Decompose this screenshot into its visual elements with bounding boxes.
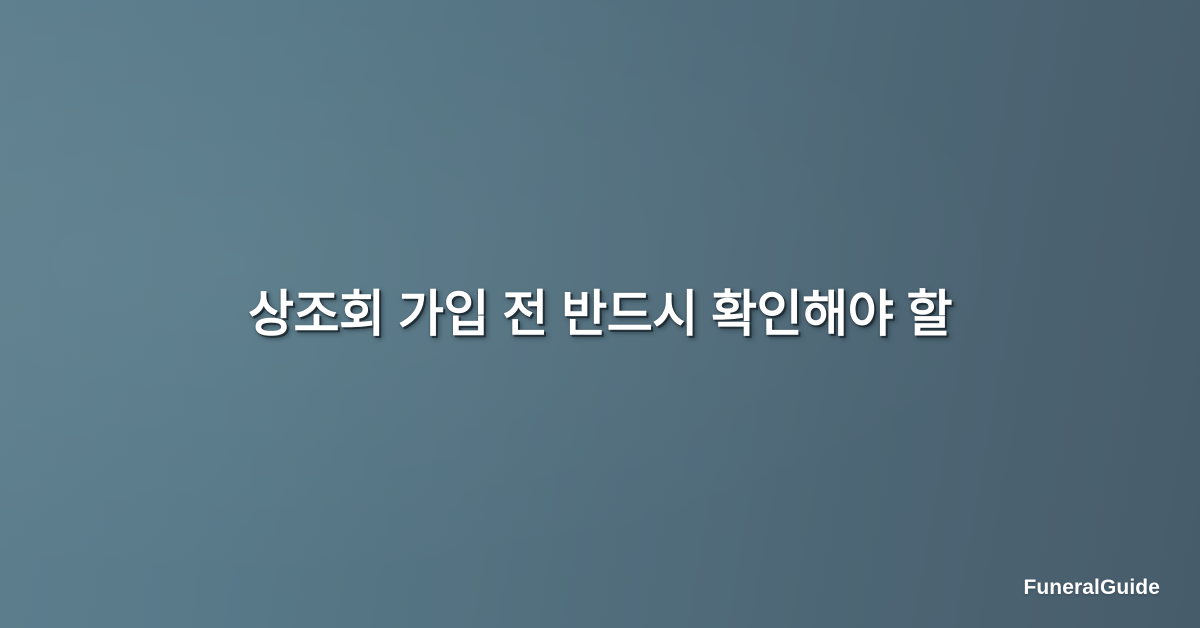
title-container: 상조회 가입 전 반드시 확인해야 할 bbox=[0, 0, 1200, 628]
page-title: 상조회 가입 전 반드시 확인해야 할 bbox=[248, 282, 952, 346]
brand-wordmark: FuneralGuide bbox=[1023, 577, 1160, 598]
share-card: 상조회 가입 전 반드시 확인해야 할 FuneralGuide bbox=[0, 0, 1200, 628]
